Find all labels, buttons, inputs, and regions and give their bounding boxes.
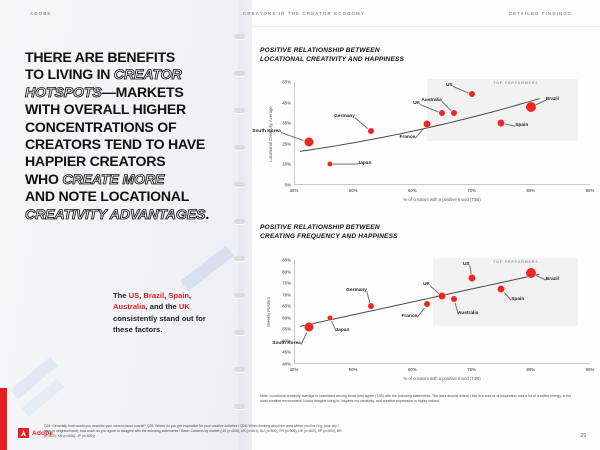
data-point-label: Brazil	[546, 97, 559, 102]
data-point[interactable]	[469, 91, 475, 97]
headline-line-10a: CREATIVITY ADVANTAGES	[25, 206, 205, 222]
data-point-label: France	[399, 135, 415, 140]
y-axis-tick: 55%	[282, 327, 291, 332]
trend-line	[294, 260, 590, 364]
chart-2-title: POSITIVE RELATIONSHIP BETWEEN CREATING F…	[260, 224, 398, 241]
y-axis-tick: 25%	[282, 141, 291, 146]
callout-country-us: US	[129, 291, 140, 300]
data-point-label: France	[401, 314, 417, 319]
data-point-label: Germany	[346, 288, 367, 293]
x-axis-tick: 40%	[290, 188, 299, 193]
data-point-label: Brazil	[546, 277, 559, 282]
x-axis-tick: 70%	[467, 367, 476, 372]
data-point-label: UK	[413, 101, 420, 106]
content-area: POSITIVE RELATIONSHIP BETWEEN LOCATIONAL…	[252, 0, 600, 450]
callout-sep-4: , and the	[146, 302, 179, 311]
callout-country-australia: Australia	[113, 302, 146, 311]
page-headline: THERE ARE BENEFITS TO LIVING IN CREATOR …	[25, 49, 230, 223]
y-axis-tick: 45%	[282, 100, 291, 105]
data-point[interactable]	[304, 323, 313, 332]
data-point[interactable]	[498, 285, 505, 292]
spiral-binding	[232, 34, 248, 426]
data-point-label: Spain	[511, 297, 524, 302]
headline-line-8b: CREATE MORE	[62, 171, 164, 187]
page-number: 29	[580, 433, 586, 439]
spiral-hole	[234, 34, 245, 39]
x-axis-tick: 60%	[408, 188, 417, 193]
data-point[interactable]	[498, 120, 505, 127]
data-point[interactable]	[304, 137, 313, 146]
adobe-logo-icon	[18, 428, 29, 438]
y-axis-tick: 80%	[282, 269, 291, 274]
chart-1-title-line2: LOCATIONAL CREATIVITY AND HAPPINESS	[260, 56, 404, 63]
callout-text: The US, Brazil, Spain, Australia, and th…	[113, 290, 225, 336]
red-corner-accent	[0, 388, 7, 450]
data-point-label: Spain	[515, 123, 528, 128]
data-point-label: South Korea	[252, 129, 281, 134]
data-point[interactable]	[368, 128, 374, 134]
y-axis-tick: 60%	[282, 315, 291, 320]
data-point[interactable]	[439, 292, 446, 299]
x-axis-tick: 80%	[526, 188, 535, 193]
x-axis-tick: 40%	[290, 367, 299, 372]
data-point[interactable]	[327, 315, 332, 320]
headline-line-3b: —MARKETS	[102, 84, 184, 100]
x-axis-label: % of creators with a positive mood (T3B)	[403, 376, 480, 381]
spiral-hole	[234, 293, 245, 298]
spiral-hole	[234, 182, 245, 187]
data-point-label: Australia	[421, 98, 442, 103]
header-brand: ADOBE	[30, 11, 52, 16]
x-axis-label: % of creators with a positive mood (T3B)	[403, 197, 480, 202]
headline-line-3a: HOTSPOTS	[25, 84, 102, 100]
headline-line-4: WITH OVERALL HIGHER	[25, 101, 186, 117]
data-point-label: Japan	[336, 328, 350, 333]
y-axis-tick: 40%	[282, 362, 291, 367]
headline-line-10b: .	[205, 206, 209, 222]
y-axis-label: Weekly Posters	[266, 297, 271, 327]
chart-1-title-line1: POSITIVE RELATIONSHIP BETWEEN	[260, 47, 380, 54]
spiral-hole	[234, 145, 245, 150]
data-point-label: Australia	[458, 311, 479, 316]
data-point[interactable]	[424, 121, 431, 128]
x-axis-tick: 50%	[349, 188, 358, 193]
headline-line-2a: TO LIVING IN	[25, 66, 114, 82]
chart-2-title-line1: POSITIVE RELATIONSHIP BETWEEN	[260, 224, 380, 231]
x-axis-tick: 90%	[586, 188, 595, 193]
x-axis-tick: 70%	[467, 188, 476, 193]
data-point[interactable]	[327, 162, 332, 167]
data-point[interactable]	[451, 110, 457, 116]
callout-prefix: The	[113, 291, 129, 300]
spiral-hole	[234, 71, 245, 76]
chart-2: TOP PERFORMERS85%80%75%70%65%60%55%50%45…	[252, 250, 600, 388]
footnote-questions: Q24: Generally, how would you describe y…	[44, 424, 344, 439]
x-axis-tick: 90%	[586, 367, 595, 372]
data-point-label: South Korea	[272, 341, 301, 346]
headline-line-8a: WHO	[25, 171, 62, 187]
callout-country-uk: UK	[179, 302, 190, 311]
headline-line-9: AND NOTE LOCATIONAL	[25, 188, 189, 204]
spiral-hole	[234, 108, 245, 113]
data-point-label: UK	[423, 282, 430, 287]
callout-country-spain: Spain	[168, 291, 189, 300]
spiral-hole	[234, 330, 245, 335]
headline-line-5: CONCENTRATIONS OF	[25, 119, 176, 135]
plot-area: TOP PERFORMERS85%80%75%70%65%60%55%50%45…	[294, 260, 590, 364]
y-axis-tick: 85%	[282, 258, 291, 263]
data-point-label: US	[463, 262, 470, 267]
x-axis-tick: 50%	[349, 367, 358, 372]
headline-line-1: THERE ARE BENEFITS	[25, 49, 175, 65]
data-point[interactable]	[451, 296, 457, 302]
data-point[interactable]	[368, 303, 374, 309]
y-axis-tick: 15%	[282, 162, 291, 167]
data-point[interactable]	[526, 102, 536, 112]
chart-1-title: POSITIVE RELATIONSHIP BETWEEN LOCATIONAL…	[260, 47, 404, 64]
callout-sep-3: ,	[189, 291, 191, 300]
chart-1: TOP PERFORMERS55%45%35%25%15%5%40%50%60%…	[252, 72, 600, 207]
y-axis-tick: 75%	[282, 281, 291, 286]
spiral-hole	[234, 367, 245, 372]
data-point[interactable]	[468, 275, 475, 282]
data-point-label: US	[446, 83, 453, 88]
spiral-hole	[234, 256, 245, 261]
data-point[interactable]	[424, 301, 430, 307]
spiral-hole	[234, 404, 245, 409]
data-point-label: Japan	[358, 161, 372, 166]
y-axis-tick: 55%	[282, 80, 291, 85]
slide-page: ADOBE CREATORS IN THE CREATOR ECONOMY DE…	[0, 0, 600, 450]
y-axis-tick: 65%	[282, 304, 291, 309]
data-point[interactable]	[526, 268, 536, 278]
chart-2-title-line2: CREATING FREQUENCY AND HAPPINESS	[260, 233, 398, 240]
y-axis-tick: 35%	[282, 121, 291, 126]
x-axis-tick: 80%	[526, 367, 535, 372]
data-point-label: Germany	[334, 114, 355, 119]
headline-line-7: HAPPIER CREATORS	[25, 153, 165, 169]
y-axis-tick: 70%	[282, 292, 291, 297]
y-axis-tick: 5%	[285, 183, 291, 188]
data-point[interactable]	[439, 110, 445, 116]
plot-area: TOP PERFORMERS55%45%35%25%15%5%40%50%60%…	[294, 82, 590, 185]
chart-note: Note: Locational creativity average is c…	[260, 394, 578, 404]
x-axis-tick: 60%	[408, 367, 417, 372]
y-axis-tick: 45%	[282, 350, 291, 355]
callout-suffix: consistently stand out for these factors…	[113, 314, 206, 334]
headline-line-2b: CREATOR	[114, 66, 182, 82]
callout-country-brazil: Brazil	[143, 291, 164, 300]
spiral-hole	[234, 219, 245, 224]
headline-line-6: CREATORS TEND TO HAVE	[25, 136, 205, 152]
